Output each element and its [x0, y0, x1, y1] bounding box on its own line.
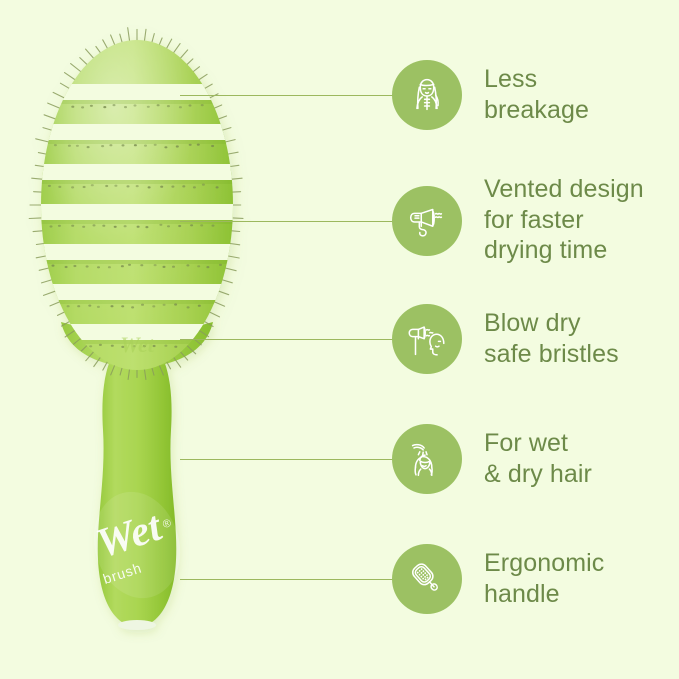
feature-label: For wet & dry hair	[484, 428, 592, 489]
woman-with-braid-icon	[392, 60, 462, 130]
neck-logo: Wet	[120, 332, 155, 357]
dryer-and-face-icon	[392, 304, 462, 374]
connector-line	[180, 579, 395, 580]
connector-line	[180, 339, 395, 340]
feature-label: Blow dry safe bristles	[484, 308, 619, 369]
hair-dryer-icon	[392, 186, 462, 256]
feature-label: Ergonomic handle	[484, 548, 604, 609]
feature-label: Less breakage	[484, 64, 589, 125]
handle-logo: Wet ® brush	[82, 482, 193, 609]
paddle-brush-icon	[392, 544, 462, 614]
connector-line	[180, 459, 395, 460]
svg-text:Wet: Wet	[120, 332, 155, 357]
shower-head-woman-icon	[392, 424, 462, 494]
product-infographic: Wet Wet ® brush	[0, 0, 679, 679]
connector-line	[180, 221, 395, 222]
feature-label: Vented design for faster drying time	[484, 174, 644, 266]
connector-line	[180, 95, 395, 96]
